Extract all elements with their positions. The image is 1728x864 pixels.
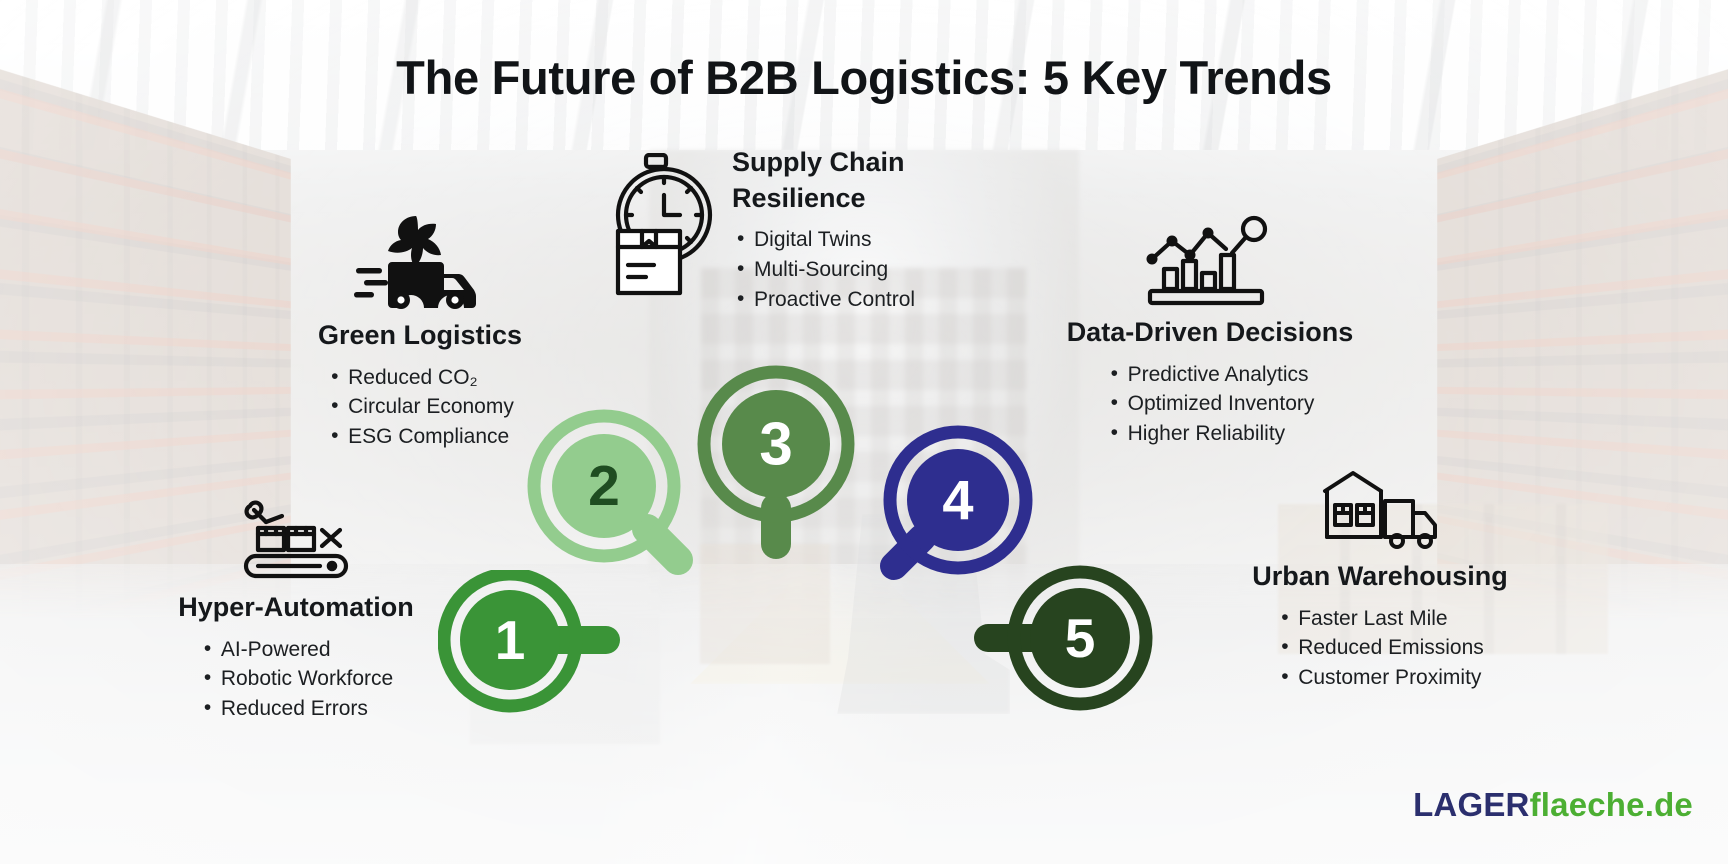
bullet-list-supply-chain-resilience: Digital Twins Multi-Sourcing Proactive C… xyxy=(732,225,992,314)
list-item: Higher Reliability xyxy=(1106,419,1315,449)
heading-data-driven-decisions: Data-Driven Decisions xyxy=(1010,315,1410,351)
list-item: Reduced Errors xyxy=(199,694,393,724)
badge-1-number: 1 xyxy=(495,609,526,671)
stopwatch-parcel-icon xyxy=(612,153,716,310)
heading-hyper-automation: Hyper-Automation xyxy=(96,590,496,626)
block-data-driven-decisions: Data-Driven Decisions Predictive Analyti… xyxy=(1010,215,1410,449)
list-item: Reduced Emissions xyxy=(1276,633,1484,663)
badge-2-number: 2 xyxy=(588,454,620,518)
bar-chart-analytics-icon xyxy=(1010,215,1410,311)
list-item: Optimized Inventory xyxy=(1106,389,1315,419)
page-title: The Future of B2B Logistics: 5 Key Trend… xyxy=(0,50,1728,105)
bullet-list-urban-warehousing: Faster Last Mile Reduced Emissions Custo… xyxy=(1276,604,1484,693)
badge-5[interactable]: 5 xyxy=(962,562,1154,714)
heading-green-logistics: Green Logistics xyxy=(255,318,585,354)
list-item: Multi-Sourcing xyxy=(732,255,992,285)
bullet-list-hyper-automation: AI-Powered Robotic Workforce Reduced Err… xyxy=(199,635,393,724)
badge-2[interactable]: 2 xyxy=(516,398,702,584)
block-urban-warehousing: Urban Warehousing Faster Last Mile Reduc… xyxy=(1170,465,1590,693)
list-item: Predictive Analytics xyxy=(1106,360,1315,390)
block-supply-chain-resilience: Supply Chain Resilience Digital Twins Mu… xyxy=(612,145,992,315)
heading-supply-chain-resilience: Supply Chain Resilience xyxy=(732,145,962,216)
list-item: Reduced CO₂ xyxy=(326,363,514,393)
list-item: AI-Powered xyxy=(199,635,393,665)
list-item: Proactive Control xyxy=(732,285,992,315)
list-item: Faster Last Mile xyxy=(1276,604,1484,634)
badge-3-number: 3 xyxy=(759,411,792,478)
logo-text-flaeche: flaeche.de xyxy=(1530,786,1693,823)
badge-4-number: 4 xyxy=(942,469,973,532)
list-item: Robotic Workforce xyxy=(199,664,393,694)
list-item: Digital Twins xyxy=(732,225,992,255)
logo-text-lager: LAGER xyxy=(1413,786,1530,823)
block-hyper-automation: Hyper-Automation AI-Powered Robotic Work… xyxy=(96,500,496,724)
conveyor-boxes-icon xyxy=(96,500,496,586)
badge-3[interactable]: 3 xyxy=(690,358,862,570)
brand-logo[interactable]: LAGERflaeche.de xyxy=(1413,786,1693,824)
list-item: Circular Economy xyxy=(326,392,514,422)
list-item: ESG Compliance xyxy=(326,422,514,452)
eco-truck-icon xyxy=(255,212,585,314)
list-item: Customer Proximity xyxy=(1276,663,1484,693)
bullet-list-data-driven-decisions: Predictive Analytics Optimized Inventory… xyxy=(1106,360,1315,449)
bullet-list-green-logistics: Reduced CO₂ Circular Economy ESG Complia… xyxy=(326,363,514,452)
warehouse-truck-icon xyxy=(1170,465,1590,555)
badge-1[interactable]: 1 xyxy=(438,570,628,720)
badge-5-number: 5 xyxy=(1065,607,1096,669)
heading-urban-warehousing: Urban Warehousing xyxy=(1170,559,1590,595)
